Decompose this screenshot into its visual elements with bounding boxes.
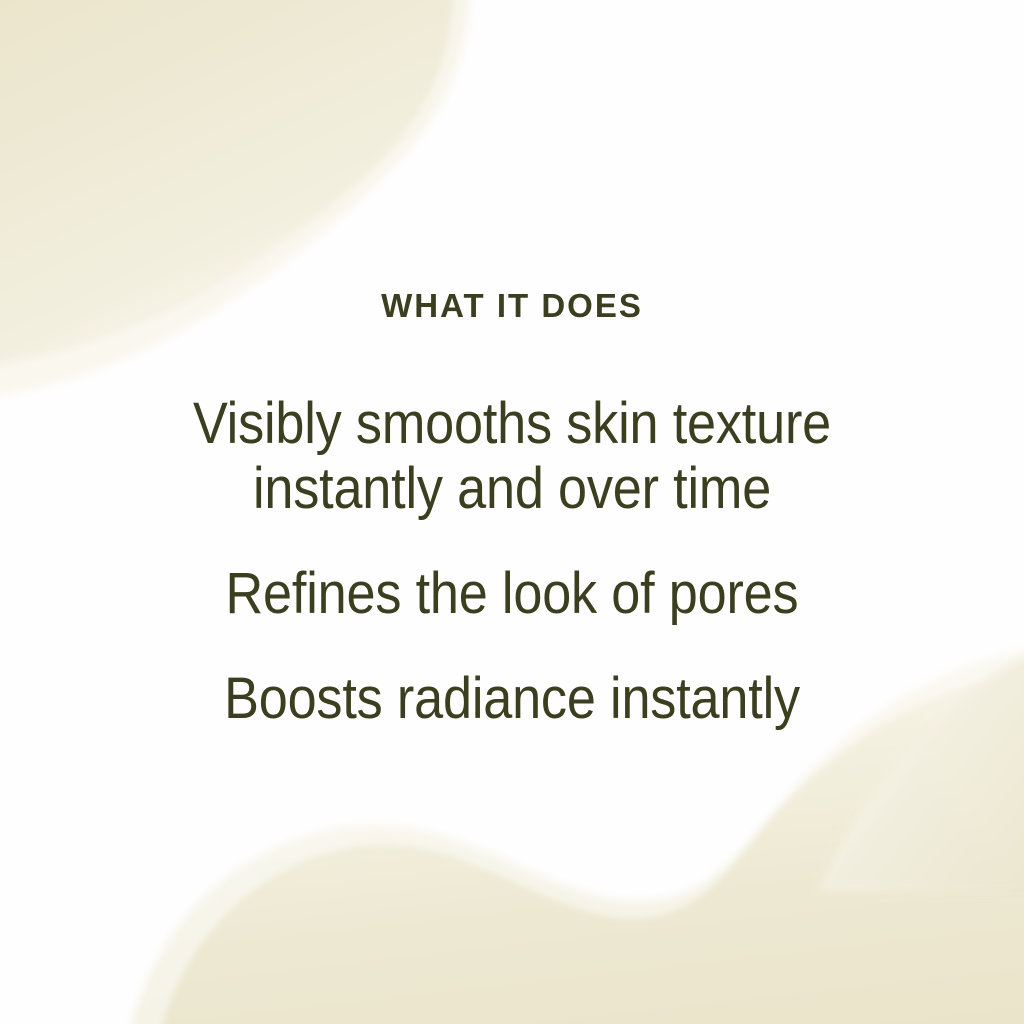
benefits-content: WHAT IT DOES Visibly smooths skin textur… (0, 0, 1024, 1024)
page-title: WHAT IT DOES (0, 288, 1024, 324)
claim-radiance: Boosts radiance instantly (51, 667, 973, 732)
claim-radiance-line-1: Boosts radiance instantly (51, 667, 973, 732)
claim-texture: Visibly smooths skin texture instantly a… (51, 392, 973, 522)
claims-list: Visibly smooths skin texture instantly a… (0, 392, 1024, 732)
claim-texture-line-1: Visibly smooths skin texture (51, 392, 973, 457)
claim-pores: Refines the look of pores (51, 562, 973, 627)
claim-texture-line-2: instantly and over time (51, 457, 973, 522)
claim-pores-line-1: Refines the look of pores (51, 562, 973, 627)
product-benefits-card: WHAT IT DOES Visibly smooths skin textur… (0, 0, 1024, 1024)
